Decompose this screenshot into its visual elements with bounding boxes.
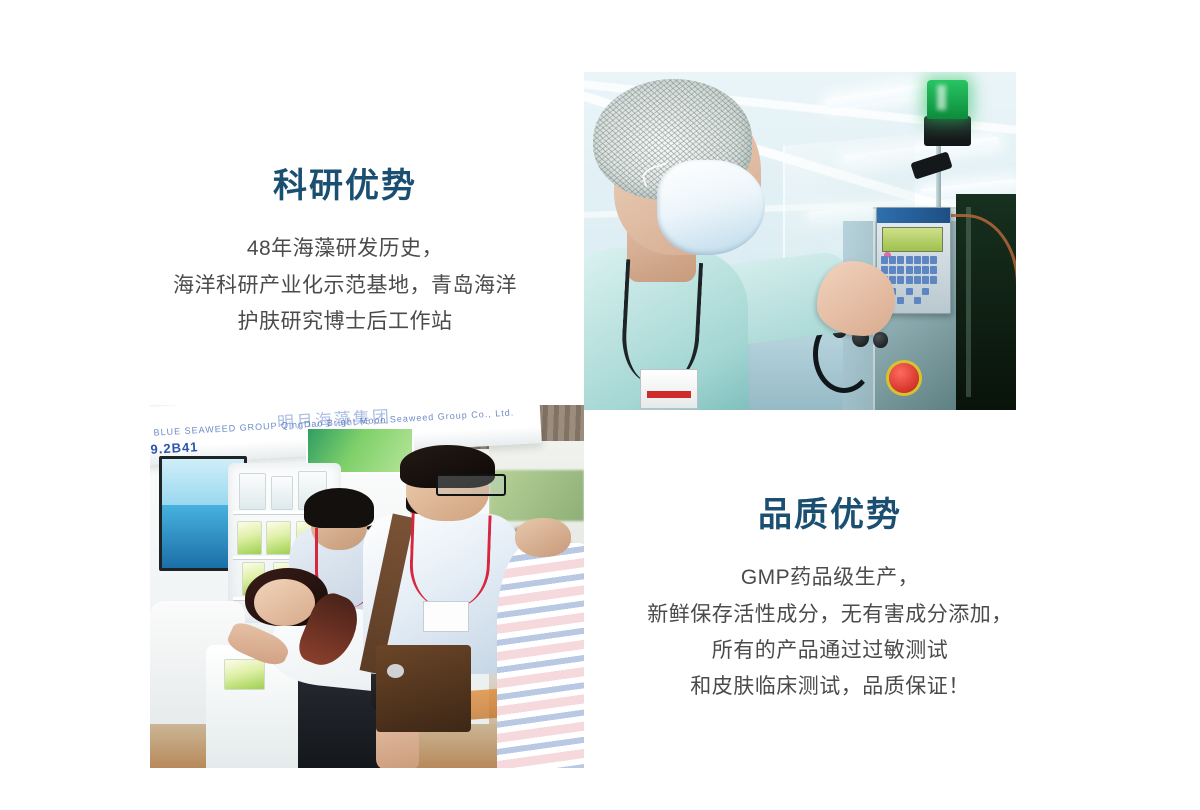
research-body-line-2: 海洋科研产业化示范基地，青岛海洋 <box>120 268 570 304</box>
product-sample-box <box>224 659 265 690</box>
research-body-line-1: 48年海藻研发历史， <box>120 231 570 267</box>
visitor-striped-shirt <box>497 543 584 768</box>
panel-lcd-screen <box>882 227 943 252</box>
section-research-advantage: 科研优势 48年海藻研发历史， 海洋科研产业化示范基地，青岛海洋 护肤研究博士后… <box>120 168 570 340</box>
green-indicator-light-icon <box>927 80 968 119</box>
operator-hand <box>817 261 895 335</box>
quality-section-body: GMP药品级生产， 新鲜保存活性成分，无有害成分添加， 所有的产品通过过敏测试 … <box>610 560 1050 704</box>
research-section-body: 48年海藻研发历史， 海洋科研产业化示范基地，青岛海洋 护肤研究博士后工作站 <box>120 231 570 339</box>
stack-light-base <box>924 116 972 146</box>
photo-cleanroom-production <box>584 72 1016 410</box>
shopper-head <box>254 579 315 626</box>
quality-section-title: 品质优势 <box>610 497 1050 534</box>
quality-body-line-1: GMP药品级生产， <box>610 560 1050 596</box>
visitor-glasses-badge <box>423 601 468 632</box>
research-section-title: 科研优势 <box>120 168 570 205</box>
research-body-line-3: 护肤研究博士后工作站 <box>120 304 570 340</box>
emergency-stop-button-icon <box>889 363 919 393</box>
panel-header-strip <box>877 208 950 223</box>
operator-id-badge <box>640 369 698 408</box>
operator-lanyard <box>620 259 703 385</box>
eyeglasses-icon <box>436 474 505 496</box>
visitor-striped-head <box>515 518 571 558</box>
messenger-bag <box>376 645 471 732</box>
page-canvas: 科研优势 48年海藻研发历史， 海洋科研产业化示范基地，青岛海洋 护肤研究博士后… <box>0 0 1200 810</box>
quality-body-line-2: 新鲜保存活性成分，无有害成分添加， <box>610 597 1050 633</box>
booth-number-label: 9.2B41 <box>150 439 199 457</box>
quality-body-line-3: 所有的产品通过过敏测试 <box>610 633 1050 669</box>
section-quality-advantage: 品质优势 GMP药品级生产， 新鲜保存活性成分，无有害成分添加， 所有的产品通过… <box>610 497 1050 705</box>
quality-body-line-4: 和皮肤临床测试，品质保证！ <box>610 669 1050 705</box>
photo-expo-booth: 明月海藻集团 BLUE SEAWEED GROUP QingDao Bright… <box>150 405 584 768</box>
visitor-blue-shirt-hair <box>304 488 373 528</box>
machine-knob-icon <box>873 332 888 348</box>
